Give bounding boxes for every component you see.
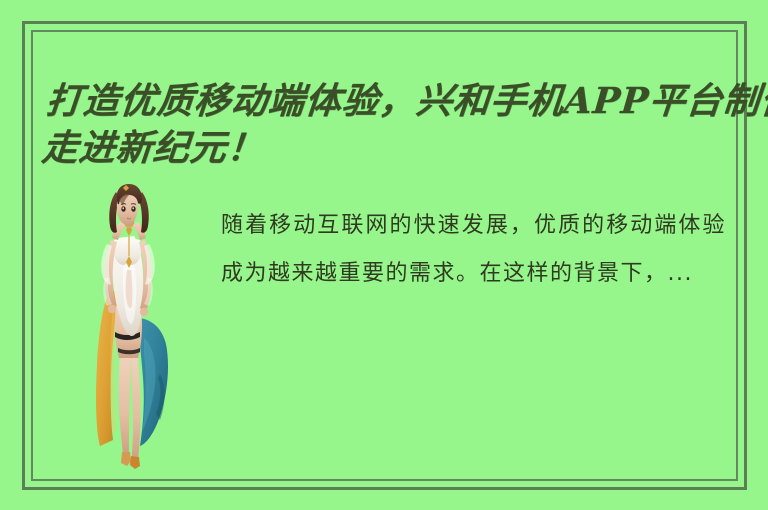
- page-title: 打造优质移动端体验，兴和手机APP平台制作走进新纪元！: [40, 78, 768, 172]
- illustration-figure: [82, 178, 174, 470]
- article-card: 打造优质移动端体验，兴和手机APP平台制作走进新纪元！: [0, 0, 768, 510]
- article-excerpt: 随着移动互联网的快速发展，优质的移动端体验成为越来越重要的需求。在这样的背景下，…: [221, 202, 726, 298]
- anime-woman-illustration-icon: [82, 178, 174, 470]
- article-body: 随着移动互联网的快速发展，优质的移动端体验成为越来越重要的需求。在这样的背景下，…: [0, 172, 768, 472]
